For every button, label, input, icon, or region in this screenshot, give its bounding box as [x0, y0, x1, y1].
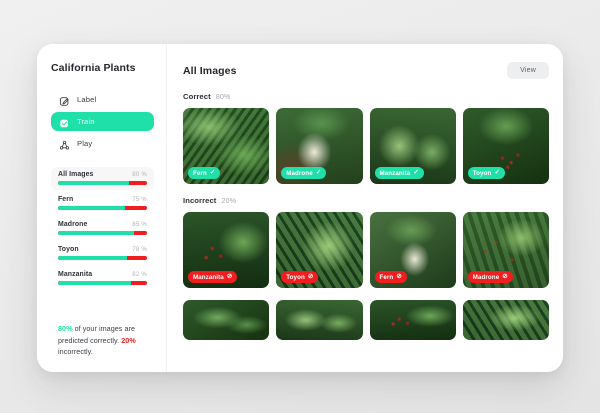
- sidebar-nav: Label Train: [51, 90, 154, 153]
- summary-incorrect-pct: 20%: [121, 336, 136, 345]
- class-percent: 80 %: [132, 171, 147, 178]
- image-tile[interactable]: Madrone ⊘: [463, 212, 549, 288]
- sidebar-item-play-text: Play: [77, 139, 92, 148]
- image-tile[interactable]: [463, 300, 549, 340]
- tag-pencil-icon: [59, 94, 70, 105]
- class-progress-bar: [58, 256, 147, 260]
- class-percent: 82 %: [132, 271, 147, 278]
- image-tile[interactable]: [276, 300, 362, 340]
- progress-fill: [58, 281, 131, 285]
- error-icon: ⊘: [308, 274, 313, 280]
- incorrect-image-grid: Manzanita ⊘ Toyon ⊘ Fern ⊘: [183, 212, 549, 288]
- sidebar: California Plants Label: [37, 44, 167, 372]
- progress-fill: [58, 256, 127, 260]
- badge-label: Madrone: [473, 274, 499, 281]
- section-header-incorrect: Incorrect 20%: [183, 196, 549, 205]
- page-background: California Plants Label: [0, 0, 600, 413]
- badge-label: Manzanita: [193, 274, 224, 281]
- class-row-toyon[interactable]: Toyon 78 %: [51, 242, 154, 265]
- section-title: Correct: [183, 92, 211, 101]
- check-icon: ✓: [210, 170, 215, 176]
- class-percent: 75 %: [132, 196, 147, 203]
- check-icon: ✓: [316, 170, 321, 176]
- class-name: All Images: [58, 171, 93, 178]
- badge-label: Fern: [380, 274, 394, 281]
- prediction-badge: Fern ⊘: [375, 271, 407, 283]
- class-percent: 85 %: [132, 221, 147, 228]
- sidebar-item-label-text: Label: [77, 95, 96, 104]
- check-icon: ✓: [413, 170, 418, 176]
- class-progress-list: All Images 80 % Fern 75 %: [51, 167, 154, 290]
- page-title: All Images: [183, 65, 237, 77]
- summary-correct-pct: 80%: [58, 324, 73, 333]
- prediction-badge: Madrone ⊘: [468, 271, 513, 283]
- accuracy-summary: 80% of your images are predicted correct…: [51, 323, 154, 362]
- scroll-fade: [167, 358, 563, 372]
- image-tile[interactable]: Fern ✓: [183, 108, 269, 184]
- class-progress-bar: [58, 181, 147, 185]
- class-name: Fern: [58, 196, 73, 203]
- plant-photo: [463, 300, 549, 340]
- image-tile[interactable]: Manzanita ⊘: [183, 212, 269, 288]
- plant-photo: [370, 300, 456, 340]
- sidebar-item-play[interactable]: Play: [51, 134, 154, 153]
- correct-image-grid: Fern ✓ Madrone ✓ Manzanita ✓: [183, 108, 549, 184]
- checkbox-icon: [59, 116, 70, 127]
- badge-label: Toyon: [286, 274, 305, 281]
- prediction-badge: Manzanita ✓: [375, 167, 424, 179]
- image-tile[interactable]: Manzanita ✓: [370, 108, 456, 184]
- error-icon: ⊘: [502, 274, 507, 280]
- image-tile[interactable]: Toyon ✓: [463, 108, 549, 184]
- plant-photo: [276, 300, 362, 340]
- view-button[interactable]: View: [507, 62, 549, 79]
- class-row-fern[interactable]: Fern 75 %: [51, 192, 154, 215]
- class-progress-bar: [58, 281, 147, 285]
- image-tile[interactable]: Toyon ⊘: [276, 212, 362, 288]
- badge-label: Fern: [193, 170, 207, 177]
- prediction-badge: Manzanita ⊘: [188, 271, 237, 283]
- class-percent: 78 %: [132, 246, 147, 253]
- image-tile[interactable]: [370, 300, 456, 340]
- class-row-all-images[interactable]: All Images 80 %: [51, 167, 154, 190]
- badge-label: Manzanita: [380, 170, 411, 177]
- image-tile[interactable]: Madrone ✓: [276, 108, 362, 184]
- error-icon: ⊘: [227, 274, 232, 280]
- check-icon: ✓: [494, 170, 499, 176]
- sidebar-item-train[interactable]: Train: [51, 112, 154, 131]
- app-card: California Plants Label: [37, 44, 563, 372]
- class-row-manzanita[interactable]: Manzanita 82 %: [51, 267, 154, 290]
- main-header: All Images View: [183, 62, 549, 79]
- plant-photo: [183, 300, 269, 340]
- section-percent: 80%: [216, 92, 231, 101]
- section-percent: 20%: [221, 196, 236, 205]
- overflow-image-grid: [183, 300, 549, 340]
- section-header-correct: Correct 80%: [183, 92, 549, 101]
- prediction-badge: Toyon ✓: [468, 167, 505, 179]
- main-panel: All Images View Correct 80% Fern ✓: [167, 44, 563, 372]
- class-name: Manzanita: [58, 271, 92, 278]
- badge-label: Toyon: [473, 170, 492, 177]
- badge-label: Madrone: [286, 170, 312, 177]
- prediction-badge: Fern ✓: [188, 167, 220, 179]
- image-tile[interactable]: [183, 300, 269, 340]
- image-tile[interactable]: Fern ⊘: [370, 212, 456, 288]
- sidebar-item-label[interactable]: Label: [51, 90, 154, 109]
- class-progress-bar: [58, 206, 147, 210]
- class-name: Madrone: [58, 221, 87, 228]
- sidebar-item-train-text: Train: [77, 117, 95, 126]
- section-title: Incorrect: [183, 196, 216, 205]
- class-name: Toyon: [58, 246, 79, 253]
- nodes-icon: [59, 138, 70, 149]
- prediction-badge: Toyon ⊘: [281, 271, 318, 283]
- error-icon: ⊘: [396, 274, 401, 280]
- app-title: California Plants: [51, 62, 154, 74]
- class-progress-bar: [58, 231, 147, 235]
- progress-fill: [58, 206, 125, 210]
- prediction-badge: Madrone ✓: [281, 167, 326, 179]
- class-row-madrone[interactable]: Madrone 85 %: [51, 217, 154, 240]
- summary-text-end: incorrectly.: [58, 347, 93, 356]
- progress-fill: [58, 181, 129, 185]
- progress-fill: [58, 231, 134, 235]
